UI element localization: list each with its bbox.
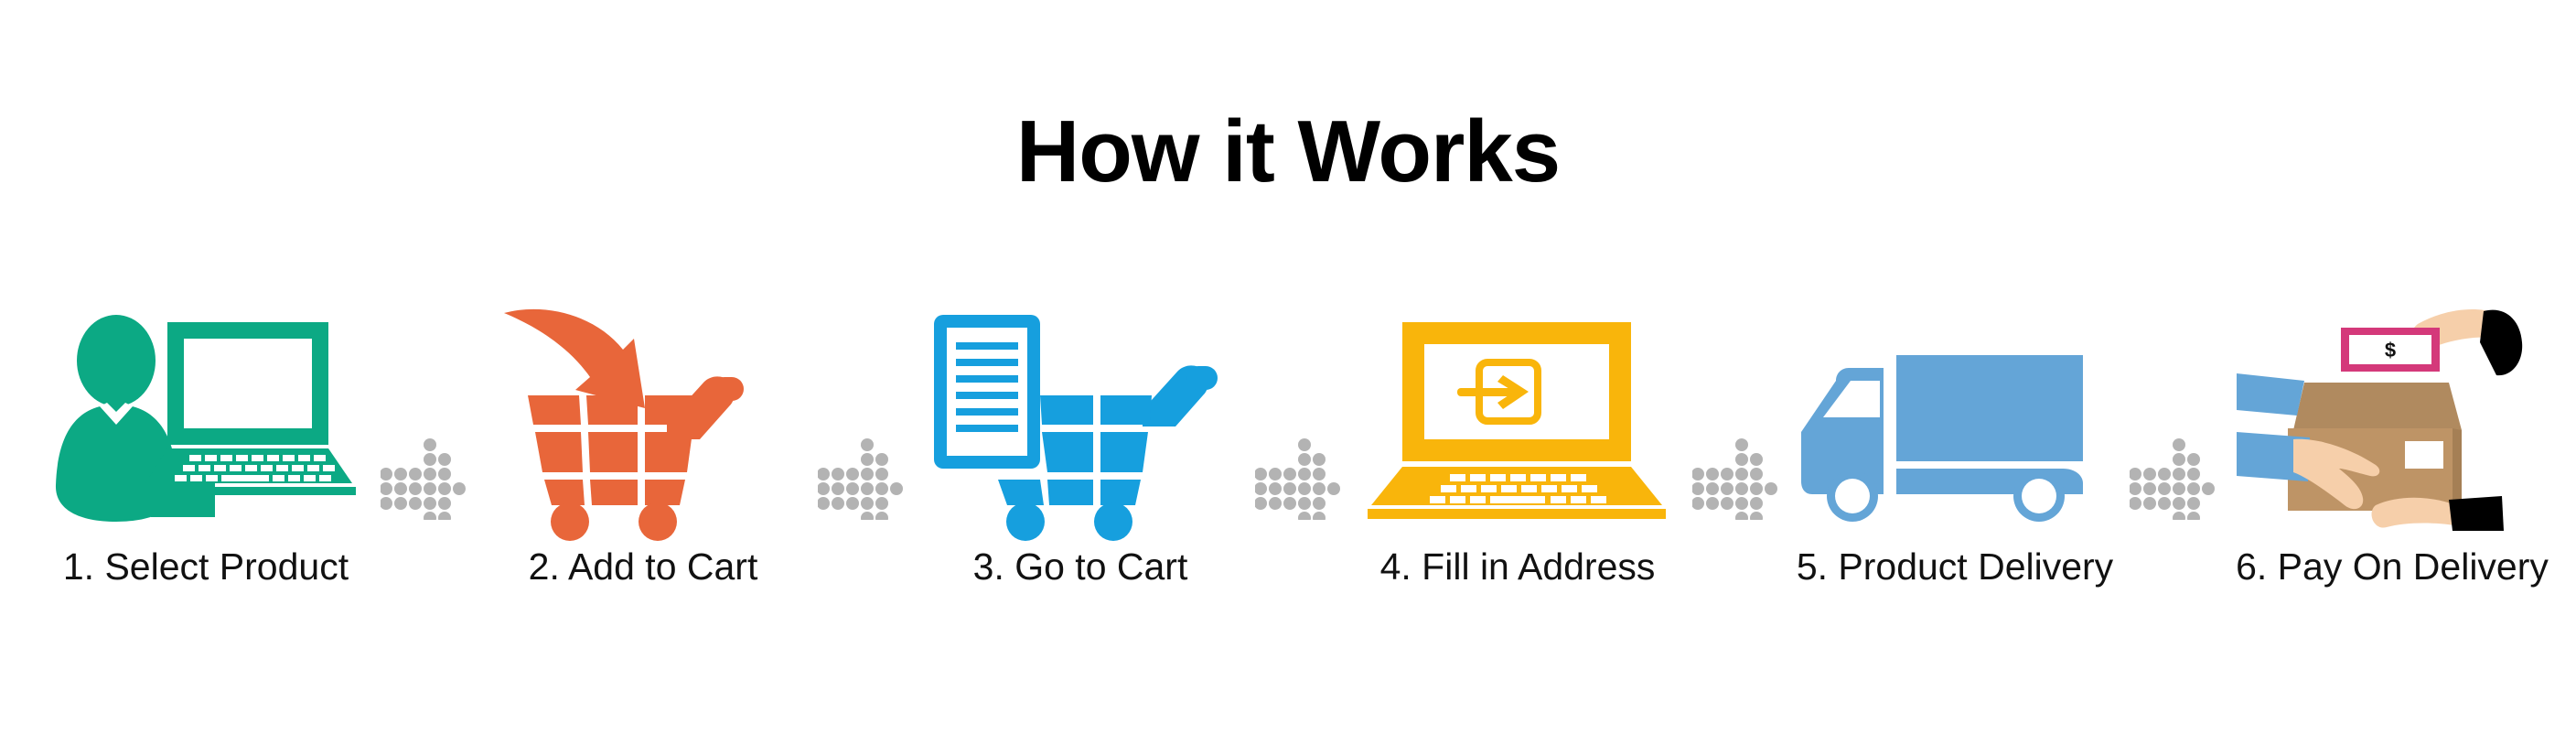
step-label: 4. Fill in Address	[1380, 547, 1656, 587]
separator-3	[1255, 302, 1343, 712]
dotted-arrow-right-icon	[381, 362, 468, 590]
step-label: 5. Product Delivery	[1797, 547, 2113, 587]
dotted-arrow-right-icon	[818, 362, 906, 590]
step-label: 6. Pay On Delivery	[2236, 547, 2549, 587]
infographic-page: How it Works	[0, 0, 2576, 745]
dotted-arrow-right-icon	[1692, 362, 1780, 590]
separator-5	[2130, 302, 2217, 712]
step-label: 3. Go to Cart	[973, 547, 1188, 587]
step-item-select-product[interactable]: 1. Select Product	[37, 302, 375, 650]
separator-1	[381, 302, 468, 712]
step-item-add-to-cart[interactable]: 2. Add to Cart	[474, 302, 812, 650]
step-label: 2. Add to Cart	[529, 547, 758, 587]
banknote-dollar-symbol: $	[2385, 339, 2396, 362]
cart-with-arrow-icon	[488, 302, 799, 531]
hands-exchanging-package-and-cash-icon: $	[2237, 302, 2548, 531]
separator-2	[818, 302, 906, 712]
dotted-arrow-right-icon	[2130, 362, 2217, 590]
step-label: 1. Select Product	[63, 547, 349, 587]
dotted-arrow-right-icon	[1255, 362, 1343, 590]
laptop-with-login-arrow-icon	[1362, 302, 1673, 531]
step-item-fill-in-address[interactable]: 4. Fill in Address	[1348, 302, 1687, 650]
person-with-laptop-icon	[50, 302, 361, 531]
step-item-go-to-cart[interactable]: 3. Go to Cart	[911, 302, 1250, 650]
delivery-truck-icon	[1799, 302, 2110, 531]
steps-row: 1. Select Product	[37, 302, 2561, 650]
separator-4	[1692, 302, 1780, 712]
document-and-cart-icon	[925, 302, 1236, 531]
page-title: How it Works	[0, 108, 2576, 196]
step-item-product-delivery[interactable]: 5. Product Delivery	[1786, 302, 2124, 650]
step-item-pay-on-delivery[interactable]: $	[2223, 302, 2561, 650]
